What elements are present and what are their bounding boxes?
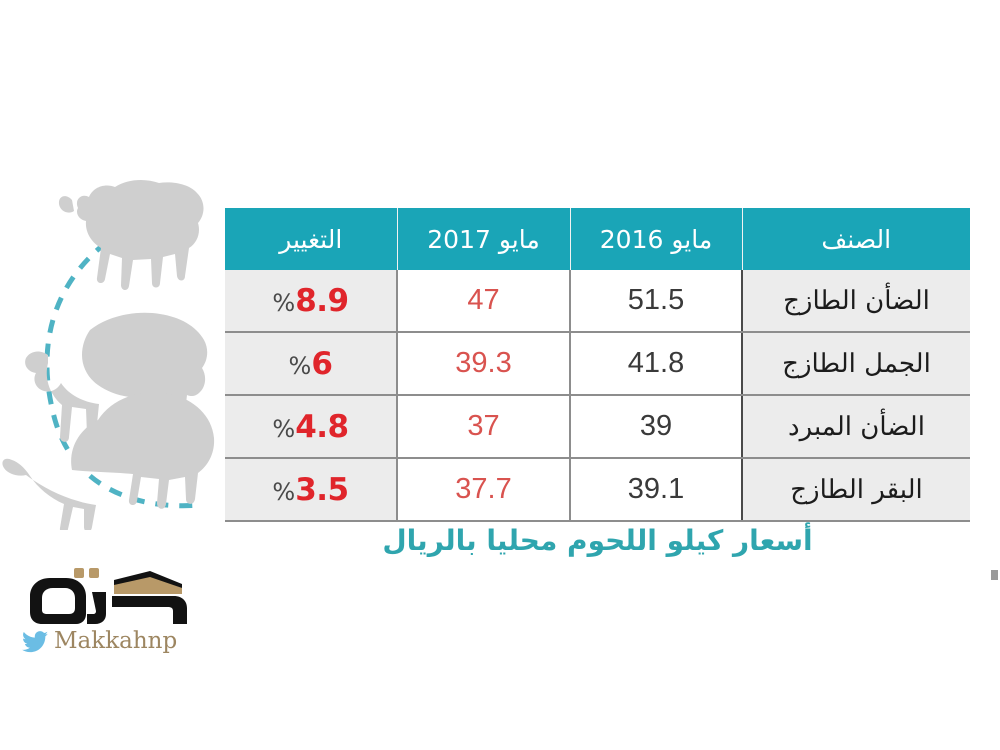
column-header-may-2016: مايو 2016 bbox=[570, 208, 742, 270]
percent-sign: % bbox=[289, 352, 312, 380]
logo-dot-left bbox=[89, 568, 99, 578]
twitter-handle-line[interactable]: Makkahnp bbox=[22, 630, 187, 653]
cell-category: الضأن المبرد bbox=[742, 395, 970, 458]
table-row: الجمل الطازج 41.8 39.3 %6 bbox=[225, 332, 970, 395]
cell-category: الضأن الطازج bbox=[742, 270, 970, 332]
cell-may-2016: 41.8 bbox=[570, 332, 742, 395]
cell-change: %3.5 bbox=[225, 458, 397, 521]
twitter-bird-icon bbox=[22, 631, 48, 653]
meat-prices-table: الصنف مايو 2016 مايو 2017 التغيير الضأن … bbox=[225, 208, 970, 522]
percent-sign: % bbox=[272, 478, 295, 506]
table-row: الضأن المبرد 39 37 %4.8 bbox=[225, 395, 970, 458]
edge-artifact-mark bbox=[991, 570, 998, 580]
cell-may-2016: 39 bbox=[570, 395, 742, 458]
cell-category: البقر الطازج bbox=[742, 458, 970, 521]
animal-illustration-panel bbox=[0, 170, 230, 530]
cell-may-2017: 47 bbox=[397, 270, 570, 332]
logo-dot-right bbox=[74, 568, 84, 578]
cell-may-2016: 51.5 bbox=[570, 270, 742, 332]
column-header-category: الصنف bbox=[742, 208, 970, 270]
cell-may-2017: 39.3 bbox=[397, 332, 570, 395]
logo-letter-kaf bbox=[87, 592, 106, 624]
cell-may-2017: 37.7 bbox=[397, 458, 570, 521]
change-value: 4.8 bbox=[295, 409, 348, 445]
change-value: 3.5 bbox=[295, 472, 348, 508]
sheep-silhouette bbox=[59, 180, 204, 290]
makkah-logo-block: Makkahnp bbox=[22, 566, 187, 661]
table-header-row: الصنف مايو 2016 مايو 2017 التغيير bbox=[225, 208, 970, 270]
logo-letter-meem bbox=[30, 578, 86, 624]
column-header-may-2017: مايو 2017 bbox=[397, 208, 570, 270]
percent-sign: % bbox=[272, 289, 295, 317]
table-row: الضأن الطازج 51.5 47 %8.9 bbox=[225, 270, 970, 332]
cell-change: %8.9 bbox=[225, 270, 397, 332]
camel-silhouette bbox=[2, 392, 214, 530]
column-header-change: التغيير bbox=[225, 208, 397, 270]
cell-change: %4.8 bbox=[225, 395, 397, 458]
cell-may-2016: 39.1 bbox=[570, 458, 742, 521]
twitter-handle-text: Makkahnp bbox=[54, 630, 177, 653]
change-value: 8.9 bbox=[295, 283, 348, 319]
logo-letter-ha bbox=[112, 596, 187, 624]
percent-sign: % bbox=[272, 415, 295, 443]
makkah-wordmark-logo bbox=[22, 566, 187, 628]
table-row: البقر الطازج 39.1 37.7 %3.5 bbox=[225, 458, 970, 521]
cell-may-2017: 37 bbox=[397, 395, 570, 458]
change-value: 6 bbox=[311, 346, 332, 382]
cell-change: %6 bbox=[225, 332, 397, 395]
table-caption: أسعار كيلو اللحوم محليا بالريال bbox=[225, 524, 970, 557]
cell-category: الجمل الطازج bbox=[742, 332, 970, 395]
